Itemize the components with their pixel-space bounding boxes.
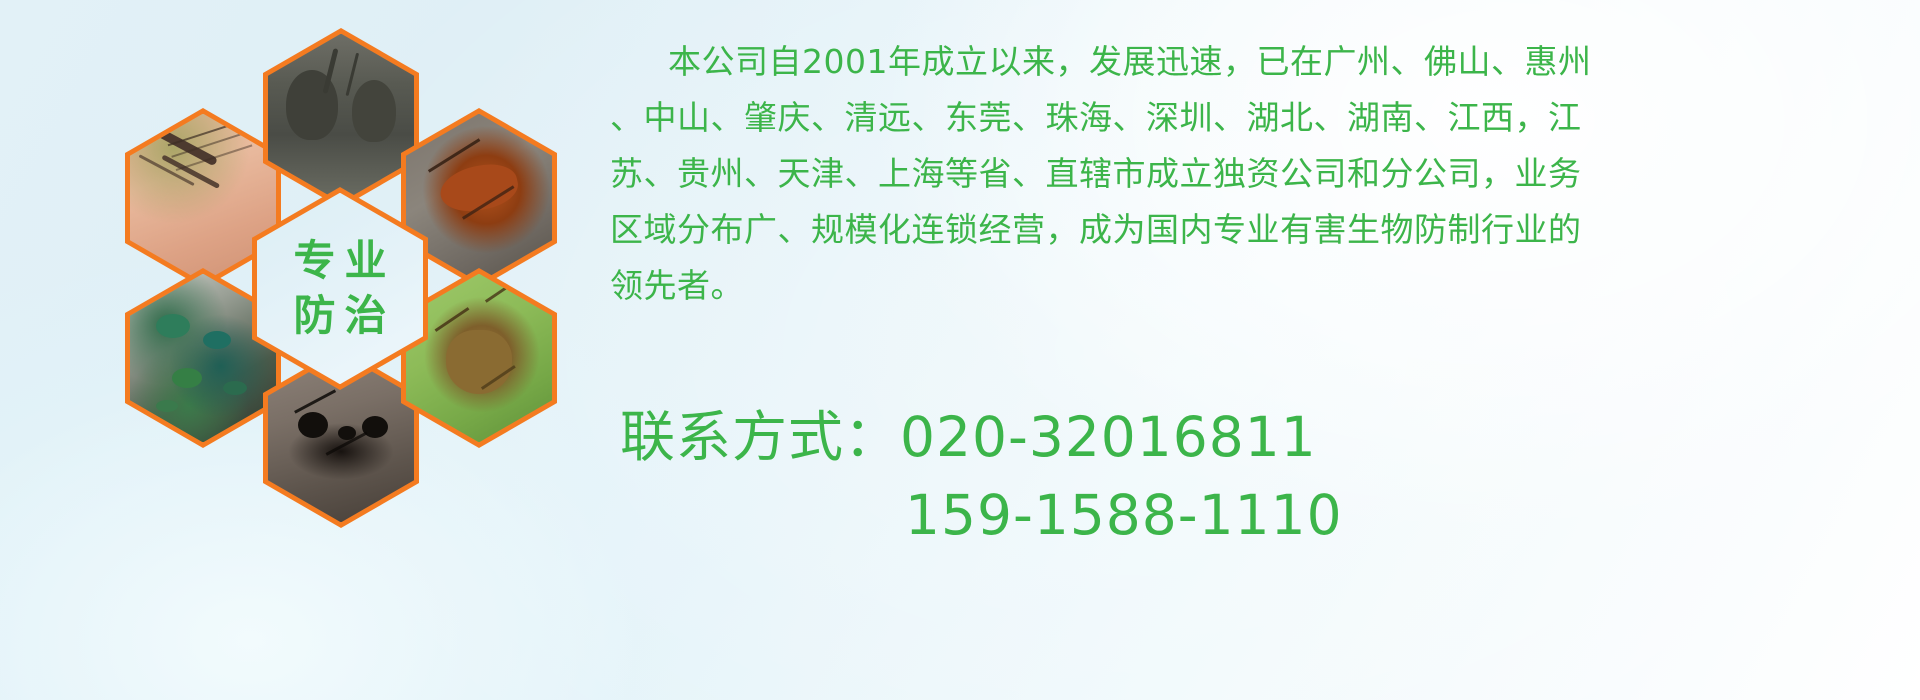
company-intro-paragraph: 本公司自2001年成立以来，发展迅速，已在广州、佛山、惠州 、中山、肇庆、清远、… [610, 34, 1900, 314]
pest-control-banner: 专业 防治 本公司自2001年成立以来，发展迅速，已在广州、佛山、惠州 、中山、… [0, 0, 1920, 700]
intro-line-4: 区域分布广、规模化连锁经营，成为国内专业有害生物防制行业的 [610, 202, 1900, 258]
rats-icon [268, 34, 414, 203]
intro-line-5: 领先者。 [610, 258, 1900, 314]
hex-photo-rats [263, 28, 419, 208]
hex-label-line-2: 防治 [284, 291, 395, 341]
hex-photo-rats-inner [268, 34, 414, 203]
intro-line-3: 苏、贵州、天津、上海等省、直辖市成立独资公司和分公司，业务 [610, 146, 1900, 202]
contact-phone-primary[interactable]: 联系方式：020-32016811 [620, 398, 1343, 476]
hex-center-label-inner: 专业 防治 [257, 193, 423, 384]
contact-phone-secondary[interactable]: 159-1588-1110 [620, 476, 1343, 554]
intro-line-2: 、中山、肇庆、清远、东莞、珠海、深圳、湖北、湖南、江西，江 [610, 90, 1900, 146]
hex-label-line-1: 专业 [284, 236, 395, 286]
contact-info: 联系方式：020-32016811 159-1588-1110 [620, 398, 1343, 554]
hexagon-photo-cluster: 专业 防治 [95, 8, 585, 568]
intro-line-1: 本公司自2001年成立以来，发展迅速，已在广州、佛山、惠州 [610, 34, 1900, 90]
